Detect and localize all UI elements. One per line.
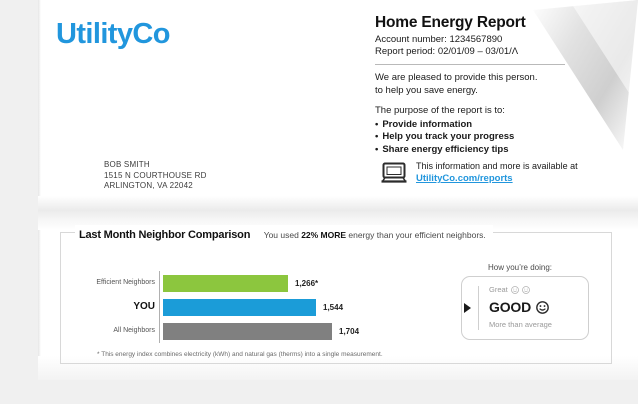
page-left-edge	[38, 0, 41, 380]
web-callout-line: This information and more is available a…	[416, 160, 578, 172]
bar-category-label: Efficient Neighbors	[81, 279, 163, 288]
energy-report-page: UtilityCo Home Energy Report Account num…	[38, 0, 638, 380]
gauge-caption: How you’re doing:	[445, 263, 595, 272]
gauge-box: Great	[461, 276, 589, 340]
purpose-list: Provide information Help you track your …	[375, 119, 590, 157]
summary-highlight: 22% MORE	[301, 230, 346, 240]
web-callout-text: This information and more is available a…	[416, 160, 578, 185]
gauge-tier-label: Great	[489, 285, 508, 294]
screenshot-canvas: UtilityCo Home Energy Report Account num…	[0, 0, 638, 404]
recipient-name: BOB SMITH	[104, 160, 207, 171]
bar-all-neighbors	[163, 323, 332, 340]
gauge-tier-great: Great	[489, 285, 530, 294]
intro-line-1: We are pleased to provide this person.	[375, 72, 580, 85]
bar-efficient-neighbors	[163, 275, 288, 292]
smiley-face-icon	[511, 286, 519, 294]
gauge-current-label: GOOD	[489, 299, 531, 315]
comparison-header: Last Month Neighbor Comparison You used …	[75, 225, 493, 243]
purpose-heading: The purpose of the report is to:	[375, 105, 590, 118]
page-title: Home Energy Report	[375, 14, 590, 32]
chart-footnote: * This energy index combines electricity…	[97, 351, 383, 358]
report-header: Home Energy Report Account number: 12345…	[375, 14, 590, 65]
header-divider	[375, 64, 565, 65]
purpose-item: Help you track your progress	[375, 131, 590, 144]
gauge-scale-line	[478, 286, 479, 330]
computer-monitor-icon	[381, 162, 407, 184]
bar-value-label: 1,704	[339, 327, 359, 336]
bar-category-text: Efficient Neighbors	[96, 279, 155, 286]
neighbor-comparison-section: Last Month Neighbor Comparison You used …	[60, 232, 612, 364]
chart-bar-row: YOU 1,544	[81, 295, 391, 319]
bar-value-label: 1,266*	[295, 279, 318, 288]
comparison-summary: You used 22% MORE energy than your effic…	[264, 230, 486, 240]
gauge-tier-current: GOOD	[489, 299, 549, 315]
purpose-item: Provide information	[375, 119, 590, 132]
recipient-city-state-zip: ARLINGTON, VA 22042	[104, 181, 207, 192]
recipient-street: 1515 N COURTHOUSE RD	[104, 171, 207, 182]
brand-logo: UtilityCo	[56, 18, 170, 51]
gauge-note: More than average	[489, 320, 552, 329]
bar-value-label: 1,544	[323, 303, 343, 312]
chart-bar-row: All Neighbors 1,704	[81, 319, 391, 343]
smiley-face-icon	[522, 286, 530, 294]
summary-suffix: energy than your efficient neighbors.	[346, 230, 486, 240]
chart-bar-row: Efficient Neighbors 1,266*	[81, 271, 391, 295]
recipient-address: BOB SMITH 1515 N COURTHOUSE RD ARLINGTON…	[104, 160, 207, 192]
purpose-item: Share energy efficiency tips	[375, 144, 590, 157]
comparison-title: Last Month Neighbor Comparison	[79, 229, 250, 241]
summary-prefix: You used	[264, 230, 302, 240]
triangle-right-icon	[464, 303, 471, 313]
intro-line-2: to help you save energy.	[375, 85, 580, 98]
bar-you	[163, 299, 316, 316]
account-number: Account number: 1234567890	[375, 34, 590, 46]
web-callout: This information and more is available a…	[381, 160, 578, 185]
smiley-face-icon	[536, 301, 549, 314]
bar-category-label: YOU	[81, 303, 163, 312]
report-url-link[interactable]: UtilityCo.com/reports	[416, 173, 513, 184]
report-period: Report period: 02/01/09 – 03/01/Λ	[375, 46, 590, 58]
purpose-block: The purpose of the report is to: Provide…	[375, 105, 590, 156]
intro-paragraph: We are pleased to provide this person. t…	[375, 72, 580, 97]
neighbor-comparison-chart: Efficient Neighbors 1,266* YOU 1,544 All…	[81, 271, 391, 343]
performance-gauge: How you’re doing: Great	[445, 263, 595, 340]
bar-category-label: All Neighbors	[81, 327, 163, 336]
